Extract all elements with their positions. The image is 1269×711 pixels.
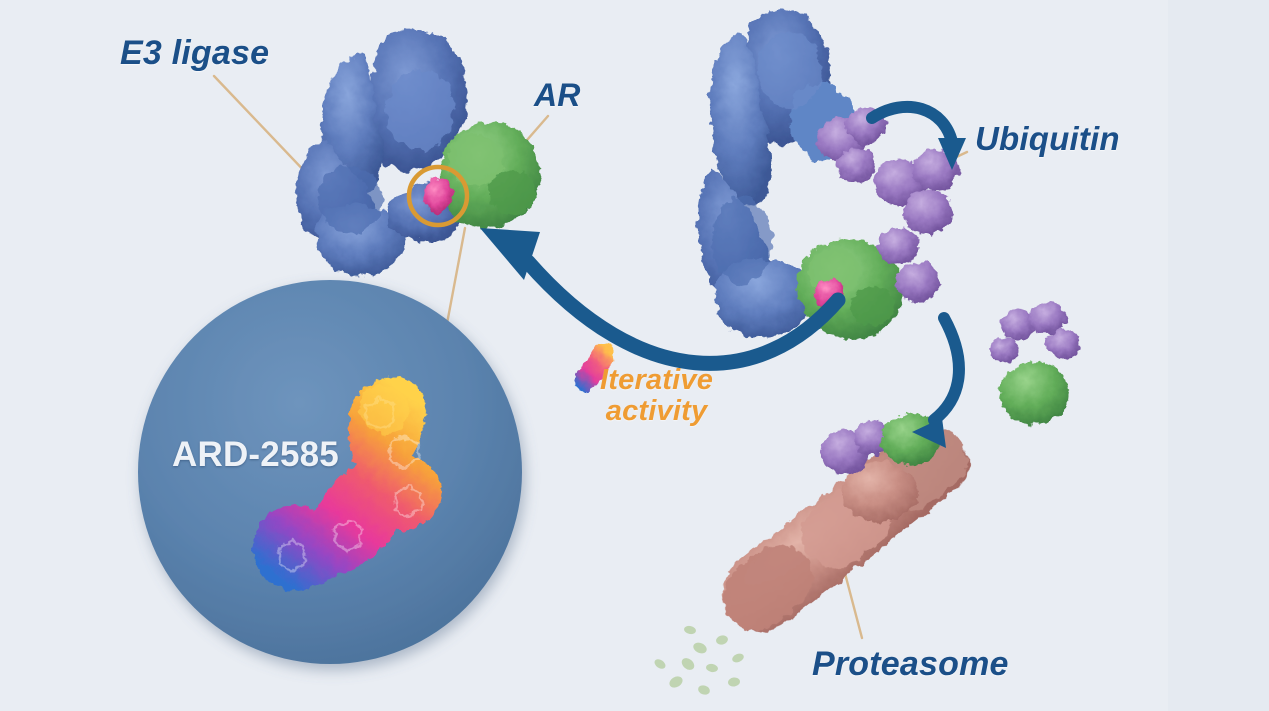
label-iterative-line2: activity	[600, 396, 713, 427]
label-e3-ligase: E3 ligase	[120, 34, 269, 73]
label-ubiquitin: Ubiquitin	[975, 120, 1120, 158]
label-ar: AR	[534, 77, 581, 114]
right-complex	[697, 10, 959, 339]
label-iterative-line1: Iterative	[600, 364, 713, 396]
e3-ligase-protein-left	[296, 29, 468, 276]
diagram-artwork	[0, 0, 1269, 711]
label-iterative-activity: Iterative activity	[600, 365, 713, 427]
label-ard-2585: ARD-2585	[172, 435, 339, 475]
figure-canvas: E3 ligase AR Ubiquitin Proteasome Iterat…	[0, 0, 1269, 711]
label-proteasome: Proteasome	[812, 645, 1009, 684]
polyubiquitinated-ar	[989, 302, 1080, 424]
degradation-fragments	[653, 625, 745, 696]
